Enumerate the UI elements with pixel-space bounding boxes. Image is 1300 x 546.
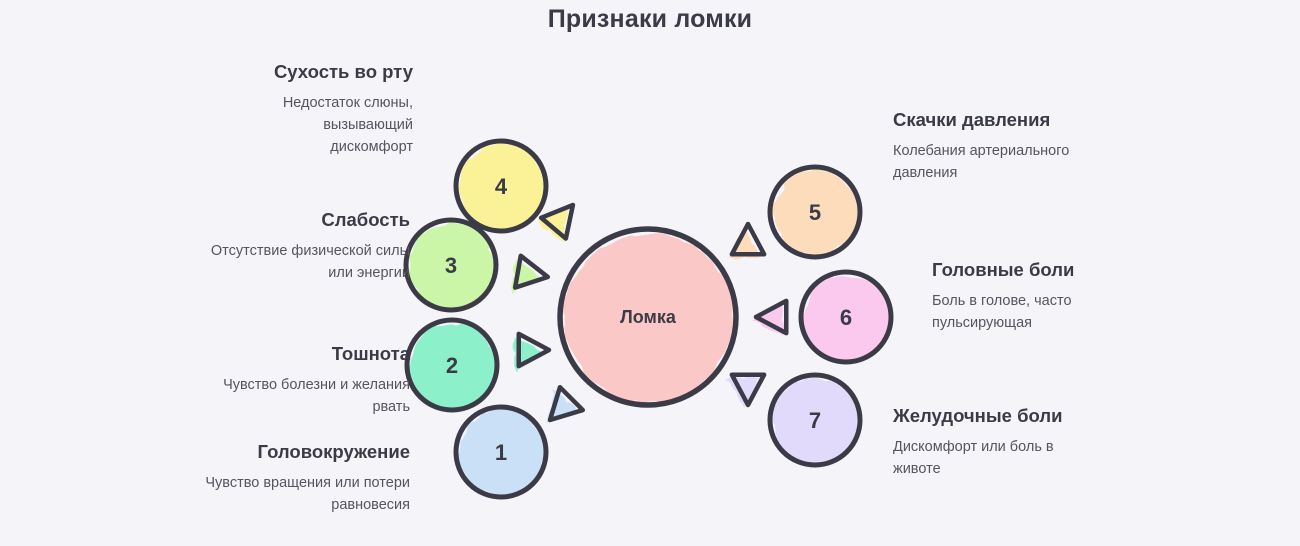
label-block-4: Сухость во ртуНедостаток слюны, вызывающ…: [240, 60, 413, 159]
label-title-2: Тошнота: [200, 342, 410, 366]
center-label: Ломка: [620, 307, 677, 327]
node-number-2: 2: [446, 353, 458, 378]
label-title-1: Головокружение: [200, 440, 410, 464]
label-desc-6: Боль в голове, часто пульсирующая: [932, 291, 1112, 335]
label-title-3: Слабость: [210, 208, 410, 232]
label-desc-1: Чувство вращения или потери равновесия: [200, 473, 410, 517]
node-number-4: 4: [495, 174, 508, 199]
label-block-6: Головные болиБоль в голове, часто пульси…: [932, 258, 1112, 335]
label-desc-4: Недостаток слюны, вызывающий дискомфорт: [240, 93, 413, 158]
node-number-1: 1: [495, 440, 507, 465]
label-desc-5: Колебания артериального давления: [893, 141, 1073, 185]
node-number-3: 3: [445, 253, 457, 278]
label-desc-3: Отсутствие физической силы или энергии: [210, 241, 410, 285]
label-block-5: Скачки давленияКолебания артериального д…: [893, 108, 1073, 185]
label-desc-2: Чувство болезни и желания рвать: [200, 375, 410, 419]
label-block-3: СлабостьОтсутствие физической силы или э…: [210, 208, 410, 285]
label-block-7: Желудочные болиДискомфорт или боль в жив…: [893, 404, 1093, 481]
label-desc-7: Дискомфорт или боль в животе: [893, 437, 1093, 481]
label-block-2: ТошнотаЧувство болезни и желания рвать: [200, 342, 410, 419]
label-title-5: Скачки давления: [893, 108, 1073, 132]
node-number-7: 7: [809, 408, 821, 433]
label-block-1: ГоловокружениеЧувство вращения или потер…: [200, 440, 410, 517]
label-title-4: Сухость во рту: [240, 60, 413, 84]
node-number-6: 6: [840, 305, 852, 330]
label-title-6: Головные боли: [932, 258, 1112, 282]
node-number-5: 5: [809, 200, 821, 225]
infographic-canvas: Признаки ломки Ломка1234567 Головокружен…: [0, 0, 1300, 546]
label-title-7: Желудочные боли: [893, 404, 1093, 428]
